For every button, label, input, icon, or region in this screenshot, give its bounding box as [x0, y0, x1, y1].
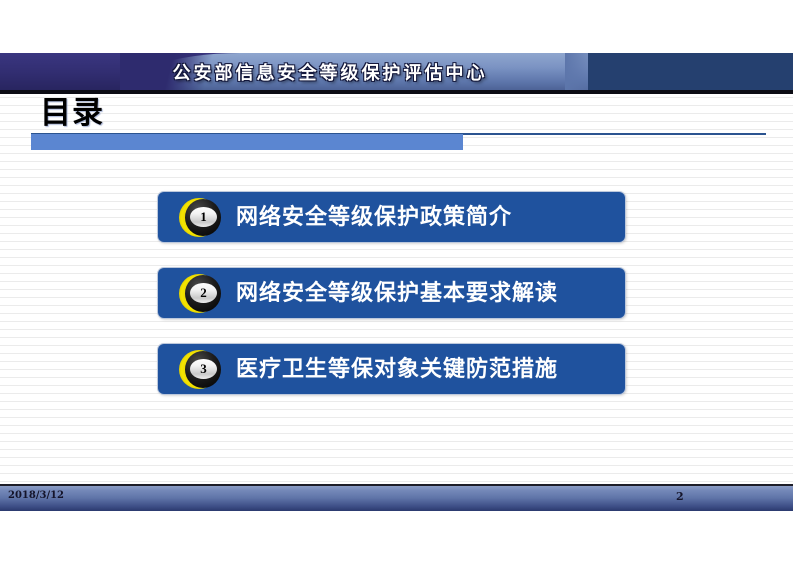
page-title: 目录 — [40, 94, 104, 132]
toc-item-label: 网络安全等级保护政策简介 — [236, 192, 512, 242]
numbered-badge-icon: 1 — [179, 198, 223, 237]
title-accent-bar — [31, 134, 463, 150]
badge-number: 2 — [190, 283, 217, 303]
toc-item-3[interactable]: 3 医疗卫生等保对象关键防范措施 — [158, 344, 625, 394]
badge-number: 1 — [190, 207, 217, 227]
organization-name: 公安部信息安全等级保护评估中心 — [120, 59, 540, 85]
toc-item-2[interactable]: 2 网络安全等级保护基本要求解读 — [158, 268, 625, 318]
header-banner: 公安部信息安全等级保护评估中心 — [0, 53, 793, 94]
table-of-contents: 1 网络安全等级保护政策简介 2 网络安全等级保护基本要求解读 3 医疗卫生等保… — [158, 192, 625, 420]
toc-item-label: 网络安全等级保护基本要求解读 — [236, 268, 558, 318]
slide-footer: 2018/3/12 2 — [0, 484, 793, 511]
badge-number: 3 — [190, 359, 217, 379]
toc-item-1[interactable]: 1 网络安全等级保护政策简介 — [158, 192, 625, 242]
numbered-badge-icon: 3 — [179, 350, 223, 389]
footer-page-number: 2 — [676, 490, 684, 503]
slide-bottom-margin — [0, 509, 793, 561]
toc-item-label: 医疗卫生等保对象关键防范措施 — [236, 344, 558, 394]
footer-date: 2018/3/12 — [8, 490, 64, 501]
slide-top-margin — [0, 0, 793, 53]
banner-mesh-artwork-icon — [588, 53, 793, 94]
slide-canvas: 公安部信息安全等级保护评估中心 目录 1 网络安全等级保护政策简介 2 网络安全… — [0, 0, 793, 561]
numbered-badge-icon: 2 — [179, 274, 223, 313]
banner-bottom-edge — [0, 90, 793, 94]
